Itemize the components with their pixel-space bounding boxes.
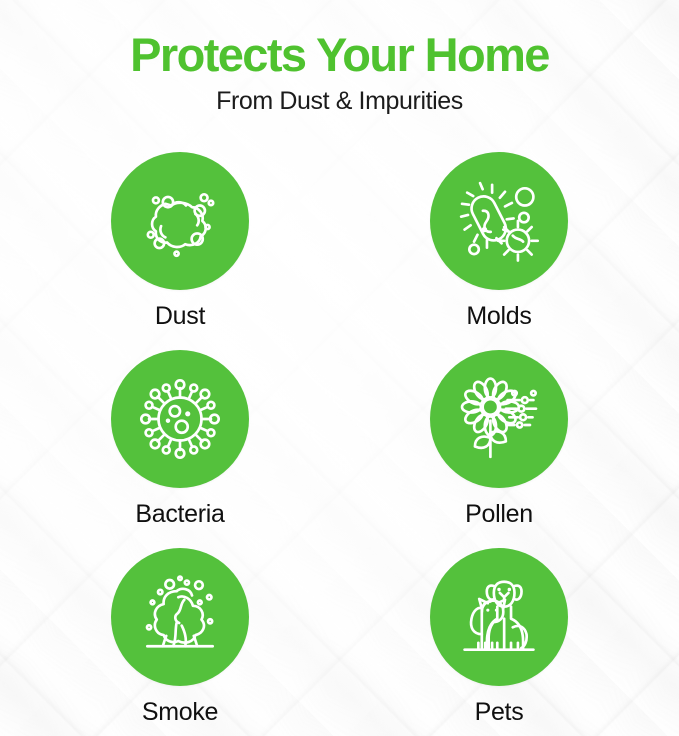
badge-pollen xyxy=(430,350,568,488)
badge-molds xyxy=(430,152,568,290)
badge-pets xyxy=(430,548,568,686)
feature-label: Molds xyxy=(466,304,531,329)
promo-graphic: Protects Your Home From Dust & Impuritie… xyxy=(0,0,679,736)
badge-smoke xyxy=(111,548,249,686)
feature-row: Dust xyxy=(0,152,679,329)
feature-label: Smoke xyxy=(142,700,218,725)
feature-tile-pets: Pets xyxy=(430,548,568,725)
feature-tile-smoke: Smoke xyxy=(111,548,249,725)
smoke-plume-icon xyxy=(137,574,223,660)
feature-label: Pets xyxy=(475,700,524,725)
dust-cloud-icon xyxy=(137,178,223,264)
mold-microbe-icon xyxy=(456,178,542,264)
feature-tile-dust: Dust xyxy=(111,152,249,329)
feature-tile-pollen: Pollen xyxy=(430,350,568,527)
pollen-flower-icon xyxy=(456,376,542,462)
feature-grid: Dust xyxy=(0,152,679,725)
bacteria-virus-icon xyxy=(137,376,223,462)
badge-bacteria xyxy=(111,350,249,488)
feature-label: Dust xyxy=(155,304,205,329)
header: Protects Your Home From Dust & Impuritie… xyxy=(0,0,679,114)
feature-label: Bacteria xyxy=(135,502,224,527)
feature-tile-bacteria: Bacteria xyxy=(111,350,249,527)
feature-row: Smoke xyxy=(0,548,679,725)
badge-dust xyxy=(111,152,249,290)
feature-tile-molds: Molds xyxy=(430,152,568,329)
page-title: Protects Your Home xyxy=(0,0,679,78)
pets-dog-cat-icon xyxy=(456,574,542,660)
feature-label: Pollen xyxy=(465,502,533,527)
page-subtitle: From Dust & Impurities xyxy=(0,78,679,114)
feature-row: Bacteria xyxy=(0,350,679,527)
